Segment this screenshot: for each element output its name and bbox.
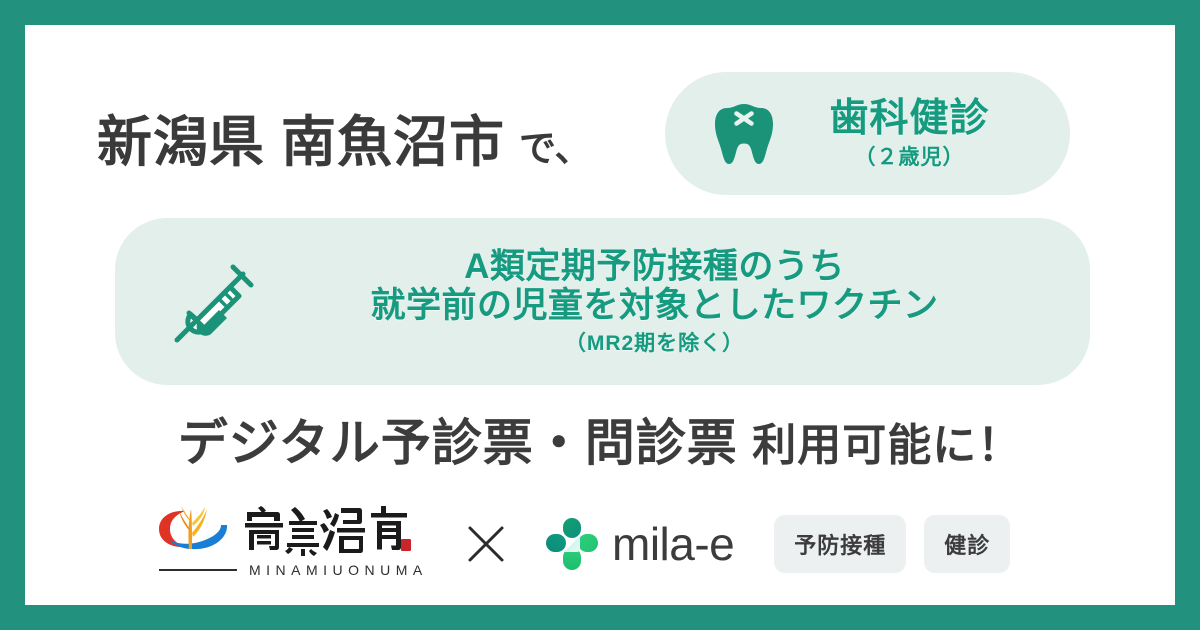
vaccine-note: （MR2期を除く） xyxy=(259,332,1050,356)
minamiuonuma-city-logo: MINAMIUONUMA xyxy=(155,498,425,590)
city-name-brushscript xyxy=(235,499,411,559)
mila-e-cross-icon xyxy=(545,517,599,571)
city-name: 南魚沼市 xyxy=(281,97,505,177)
location-heading: 新潟県 南魚沼市 で、 xyxy=(97,97,592,177)
mila-e-wordmark: mila-e xyxy=(612,517,734,571)
mila-e-logo: mila-e xyxy=(545,517,734,571)
city-logo-rule xyxy=(159,569,237,571)
minamiuonuma-emblem-icon xyxy=(155,501,231,557)
vaccine-badge: A類定期予防接種のうち 就学前の児童を対象としたワクチン （MR2期を除く） xyxy=(115,218,1090,385)
syringe-icon xyxy=(167,257,259,349)
dental-checkup-badge: 歯科健診 （２歳児） xyxy=(665,72,1070,195)
dental-badge-subtitle: （２歳児） xyxy=(775,147,1044,168)
headline-tail: 利用可能に！ xyxy=(752,421,1022,470)
banner-frame: 新潟県 南魚沼市 で、 歯科健診 （２歳児） xyxy=(25,25,1175,605)
city-logo-mark-row xyxy=(155,498,425,560)
vaccine-line-2: 就学前の児童を対象としたワクチン xyxy=(259,286,1050,325)
logo-row: MINAMIUONUMA xyxy=(25,483,1175,605)
page-title: デジタル予診票・問診票 利用可能に！ xyxy=(25,403,1175,475)
prefecture-name: 新潟県 xyxy=(97,97,265,177)
dental-badge-text: 歯科健診 （２歳児） xyxy=(775,99,1070,168)
tooth-icon xyxy=(713,101,775,167)
tag-vaccination: 予防接種 xyxy=(774,515,906,573)
location-row: 新潟県 南魚沼市 で、 歯科健診 （２歳児） xyxy=(25,25,1175,195)
location-particle: で、 xyxy=(519,118,592,172)
city-romaji-row: MINAMIUONUMA xyxy=(155,562,425,578)
dental-badge-title: 歯科健診 xyxy=(775,99,1044,138)
vaccine-line-1: A類定期予防接種のうち xyxy=(259,247,1050,286)
city-romaji: MINAMIUONUMA xyxy=(249,562,428,578)
tag-checkup: 健診 xyxy=(924,515,1010,573)
headline-main: デジタル予診票・問診票 xyxy=(178,415,738,471)
cross-separator-icon xyxy=(465,523,507,565)
vaccine-badge-text: A類定期予防接種のうち 就学前の児童を対象としたワクチン （MR2期を除く） xyxy=(259,247,1090,356)
tag-list: 予防接種 健診 xyxy=(774,515,1028,573)
